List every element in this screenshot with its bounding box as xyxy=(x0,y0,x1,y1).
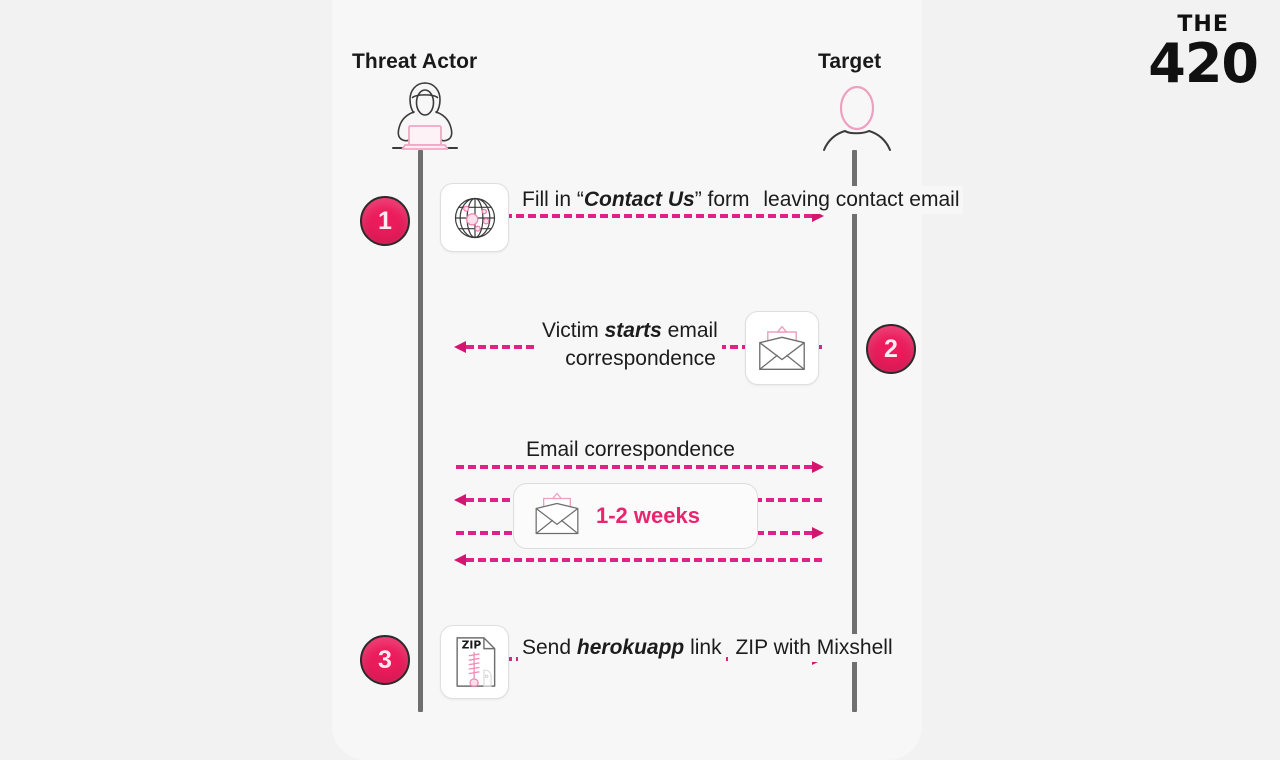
step-badge-1: 1 xyxy=(360,196,410,246)
svg-text:ZIP: ZIP xyxy=(461,639,481,652)
the-420-logo: THE 420 xyxy=(1148,14,1258,89)
msg1-emphasis: Contact Us xyxy=(584,188,695,211)
msg3-pre: Send xyxy=(522,636,577,659)
msg1-pre: Fill in “ xyxy=(522,188,584,211)
duration-text: 1-2 weeks xyxy=(596,503,700,529)
arrow-head-left-icon xyxy=(454,494,466,506)
hooded-attacker-at-laptop-icon xyxy=(383,78,467,160)
msg2-pre: Victim xyxy=(542,319,605,342)
arrow-head-left-icon xyxy=(454,341,466,353)
person-bust-icon xyxy=(815,78,899,160)
lifeline-threat-actor xyxy=(418,150,423,712)
open-envelope-icon xyxy=(532,491,582,541)
arrow-shaft xyxy=(456,214,812,218)
msg1-post: ” form xyxy=(695,188,750,211)
msg3-emphasis: herokuapp xyxy=(577,636,684,659)
msg3-post: link xyxy=(684,636,721,659)
arrow-head-right-icon xyxy=(812,461,824,473)
msg1-line2: leaving contact email xyxy=(759,186,963,214)
arrow-shaft xyxy=(456,465,812,469)
arrow-head-right-icon xyxy=(812,527,824,539)
zip-archive-icon: ZIP xyxy=(440,625,509,699)
msg2-emphasis: starts xyxy=(605,319,662,342)
exchange-label: Email correspondence xyxy=(522,436,739,464)
step-badge-2: 2 xyxy=(866,324,916,374)
msg2-line2: correspondence xyxy=(538,345,722,373)
lifeline-target xyxy=(852,150,857,712)
message-label-exchange: Email correspondence xyxy=(522,436,739,464)
message-label-step-3: Send herokuapp link ZIP with Mixshell xyxy=(518,634,897,662)
msg3-line2: ZIP with Mixshell xyxy=(731,634,896,662)
msg2-post: email xyxy=(662,319,718,342)
diagram-canvas: Threat Actor Target xyxy=(0,0,1280,720)
arrow-head-left-icon xyxy=(454,554,466,566)
column-title-threat-actor: Threat Actor xyxy=(352,50,477,74)
column-title-target: Target xyxy=(818,50,881,74)
message-label-step-1: Fill in “Contact Us” form leaving contac… xyxy=(518,186,963,214)
arrow-shaft xyxy=(466,558,822,562)
step-badge-3: 3 xyxy=(360,635,410,685)
globe-network-icon xyxy=(440,183,509,252)
duration-chip: 1-2 weeks xyxy=(513,483,758,549)
message-label-step-2: Victim starts email correspondence xyxy=(538,317,722,373)
logo-line-420: 420 xyxy=(1148,38,1258,89)
open-envelope-icon xyxy=(745,311,819,385)
message-arrow-exchange-4 xyxy=(456,554,822,566)
